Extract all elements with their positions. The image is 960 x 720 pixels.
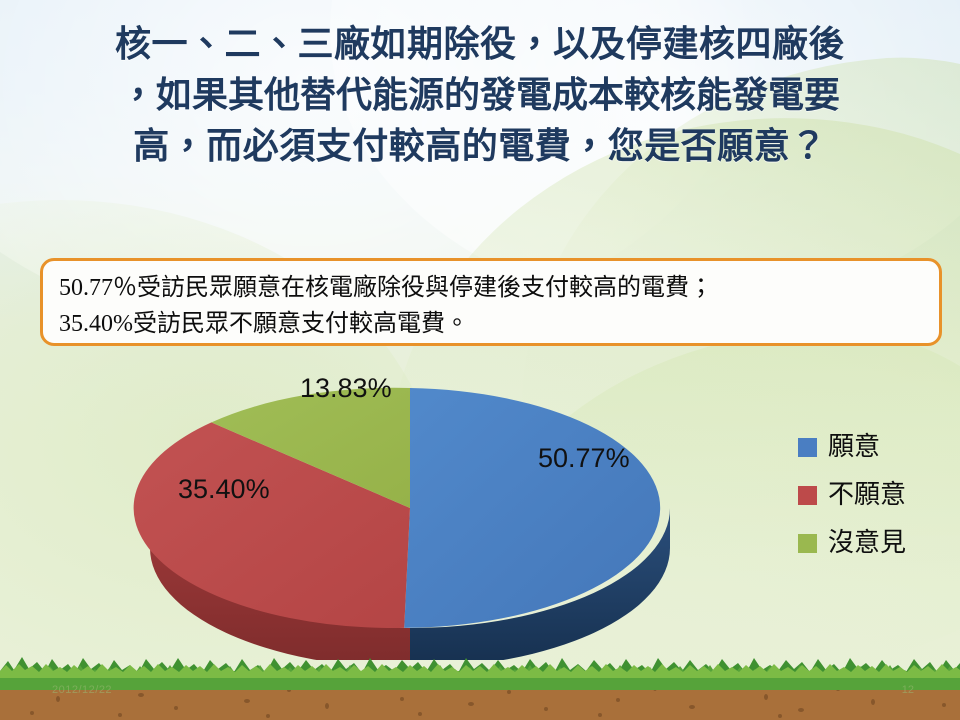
legend-swatch-icon-agree [798,438,817,457]
footer-page-number: 12 [902,684,914,696]
legend-swatch-icon-disagree [798,486,817,505]
title-line-1: 核一、二、三廠如期除役，以及停建核四廠後 [40,18,920,69]
summary-callout-box: 50.77％受訪民眾願意在核電廠除役與停建後支付較高的電費； 35.40%受訪民… [40,258,942,346]
grass-layer-front-icon [0,662,960,678]
title-line-3: 高，而必須支付較高的電費，您是否願意？ [40,120,920,171]
legend-item-disagree[interactable]: 不願意 [798,480,948,510]
footer-date: 2012/12/22 [52,684,112,696]
legend-swatch-icon-noopinion [798,534,817,553]
pie-value-label-blue: 50.77% [538,443,630,474]
legend-label-disagree: 不願意 [828,482,906,508]
pie-value-label-green: 13.83% [300,373,392,404]
slide-title: 核一、二、三廠如期除役，以及停建核四廠後 ，如果其他替代能源的發電成本較核能發電… [40,18,920,171]
legend-label-noopinion: 沒意見 [828,530,906,556]
legend-item-noopinion[interactable]: 沒意見 [798,528,948,558]
slide-root: 核一、二、三廠如期除役，以及停建核四廠後 ，如果其他替代能源的發電成本較核能發電… [0,0,960,720]
legend-label-agree: 願意 [828,434,880,460]
pie-chart-svg [120,360,740,660]
pie-value-label-red: 35.40% [178,474,270,505]
summary-line-2: 35.40%受訪民眾不願意支付較高電費。 [59,306,925,342]
legend-item-agree[interactable]: 願意 [798,432,948,462]
title-line-2: ，如果其他替代能源的發電成本較核能發電要 [40,69,920,120]
summary-line-1: 50.77％受訪民眾願意在核電廠除役與停建後支付較高的電費； [59,270,925,306]
pie-chart: 50.77% 35.40% 13.83% [120,360,740,660]
ground-decoration [0,638,960,720]
chart-legend: 願意 不願意 沒意見 [798,432,948,576]
